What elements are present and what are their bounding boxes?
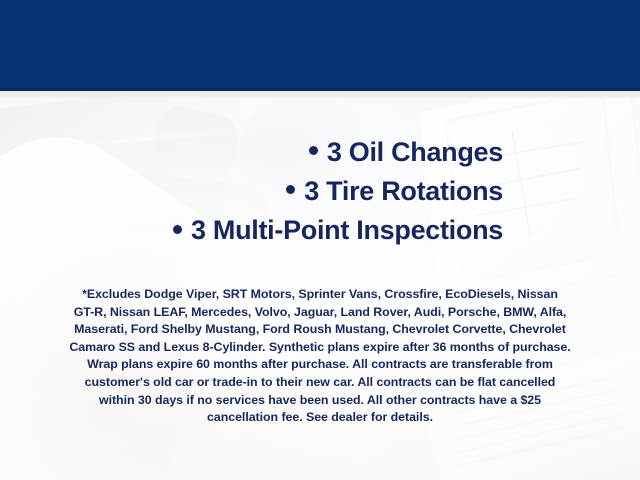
header-banner xyxy=(0,0,640,88)
bullet-dot-icon xyxy=(173,225,182,234)
disclaimer-line: *Excludes Dodge Viper, SRT Motors, Sprin… xyxy=(28,286,612,304)
benefit-item-label: 3 Multi-Point Inspections xyxy=(191,215,503,245)
disclaimer-line: cancellation fee. See dealer for details… xyxy=(28,409,612,427)
benefit-item-label: 3 Oil Changes xyxy=(327,137,503,167)
benefit-item: 3 Oil Changes xyxy=(0,137,503,167)
benefits-list: 3 Oil Changes 3 Tire Rotations 3 Multi-P… xyxy=(0,137,503,246)
disclaimer-line: Camaro SS and Lexus 8-Cylinder. Syntheti… xyxy=(28,339,612,357)
disclaimer-line: Wrap plans expire 60 months after purcha… xyxy=(28,356,612,374)
extracare-package-ad: ExtraCare Package* 3 Oil Changes 3 Tire … xyxy=(0,0,640,480)
disclaimer-line: Maserati, Ford Shelby Mustang, Ford Rous… xyxy=(28,321,612,339)
disclaimer-line: GT-R, Nissan LEAF, Mercedes, Volvo, Jagu… xyxy=(28,304,612,322)
benefit-item-label: 3 Tire Rotations xyxy=(304,176,503,206)
disclaimer-line: customer's old car or trade-in to their … xyxy=(28,374,612,392)
disclaimer-text: *Excludes Dodge Viper, SRT Motors, Sprin… xyxy=(28,286,612,427)
benefit-item: 3 Multi-Point Inspections xyxy=(0,215,503,245)
disclaimer-line: within 30 days if no services have been … xyxy=(28,392,612,410)
benefit-item: 3 Tire Rotations xyxy=(0,176,503,206)
bullet-dot-icon xyxy=(309,146,318,155)
bullet-dot-icon xyxy=(286,185,295,194)
header-banner-underline xyxy=(0,91,640,98)
